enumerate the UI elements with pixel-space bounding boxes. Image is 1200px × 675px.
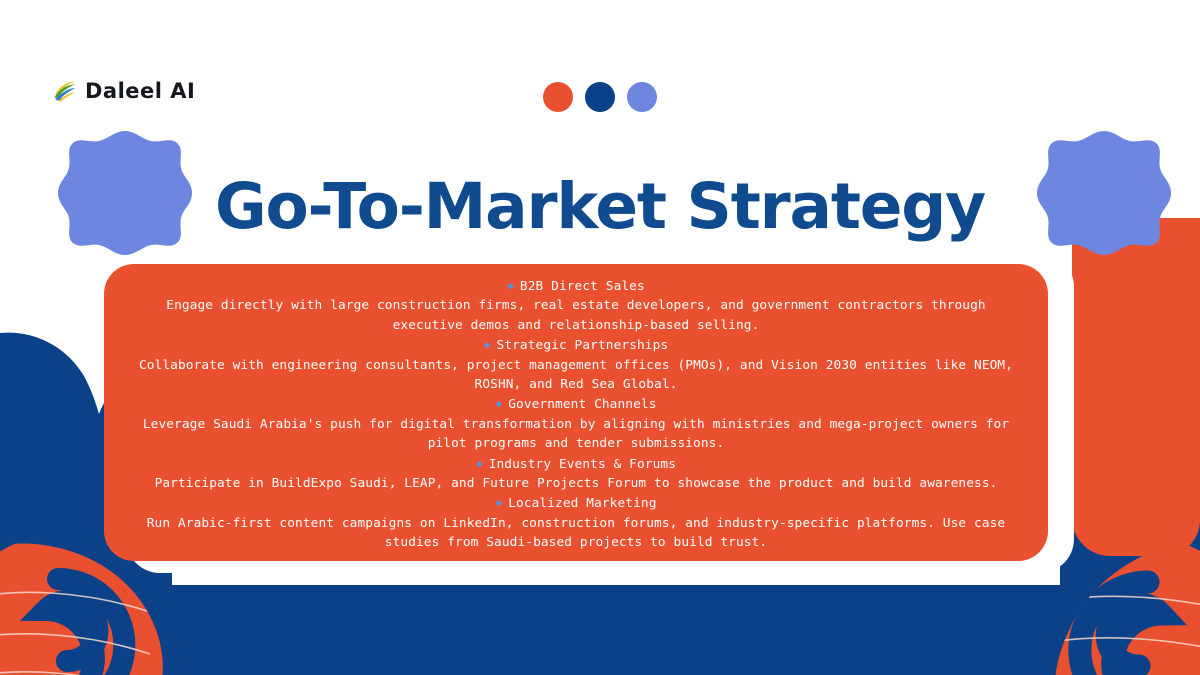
list-item-body: Leverage Saudi Arabia's push for digital…	[130, 415, 1022, 454]
list-item-body: Participate in BuildExpo Saudi, LEAP, an…	[130, 474, 1022, 493]
list-item: ◆Localized Marketing Run Arabic-first co…	[130, 493, 1022, 552]
strategy-list: ◆B2B Direct Sales Engage directly with l…	[130, 276, 1022, 553]
list-item: ◆Government Channels Leverage Saudi Arab…	[130, 394, 1022, 453]
list-item-heading-text: Industry Events & Forums	[489, 457, 676, 472]
page-title: Go-To-Market Strategy	[0, 174, 1200, 240]
slide-canvas: Daleel AI Go-To-Market Strategy ◆B2B Dir…	[0, 0, 1200, 675]
list-item-heading-text: Strategic Partnerships	[497, 338, 669, 353]
list-item: ◆Strategic Partnerships Collaborate with…	[130, 335, 1022, 394]
list-item-heading-text: Localized Marketing	[508, 496, 656, 511]
list-item-heading: ◆Strategic Partnerships	[130, 335, 1022, 355]
dot-orange	[543, 82, 573, 112]
brand-name: Daleel AI	[85, 79, 195, 103]
list-item-body: Collaborate with engineering consultants…	[130, 356, 1022, 395]
list-item-heading: ◆Localized Marketing	[130, 493, 1022, 513]
brand-lockup: Daleel AI	[52, 78, 195, 104]
dot-periwinkle	[627, 82, 657, 112]
list-item-body: Run Arabic-first content campaigns on Li…	[130, 514, 1022, 553]
list-item-heading: ◆B2B Direct Sales	[130, 276, 1022, 296]
list-item-body: Engage directly with large construction …	[130, 296, 1022, 335]
dot-trio	[543, 82, 657, 112]
globe-swoosh-icon	[52, 78, 78, 104]
diamond-bullet-icon: ◆	[495, 496, 502, 509]
list-item-heading-text: B2B Direct Sales	[520, 279, 645, 294]
dot-navy	[585, 82, 615, 112]
list-item: ◆B2B Direct Sales Engage directly with l…	[130, 276, 1022, 335]
diamond-bullet-icon: ◆	[484, 338, 491, 351]
list-item-heading-text: Government Channels	[508, 397, 656, 412]
diamond-bullet-icon: ◆	[495, 397, 502, 410]
list-item: ◆Industry Events & Forums Participate in…	[130, 454, 1022, 494]
list-item-heading: ◆Government Channels	[130, 394, 1022, 414]
diamond-bullet-icon: ◆	[507, 279, 514, 292]
list-item-heading: ◆Industry Events & Forums	[130, 454, 1022, 474]
content-panel: ◆B2B Direct Sales Engage directly with l…	[104, 264, 1048, 561]
diamond-bullet-icon: ◆	[476, 457, 483, 470]
